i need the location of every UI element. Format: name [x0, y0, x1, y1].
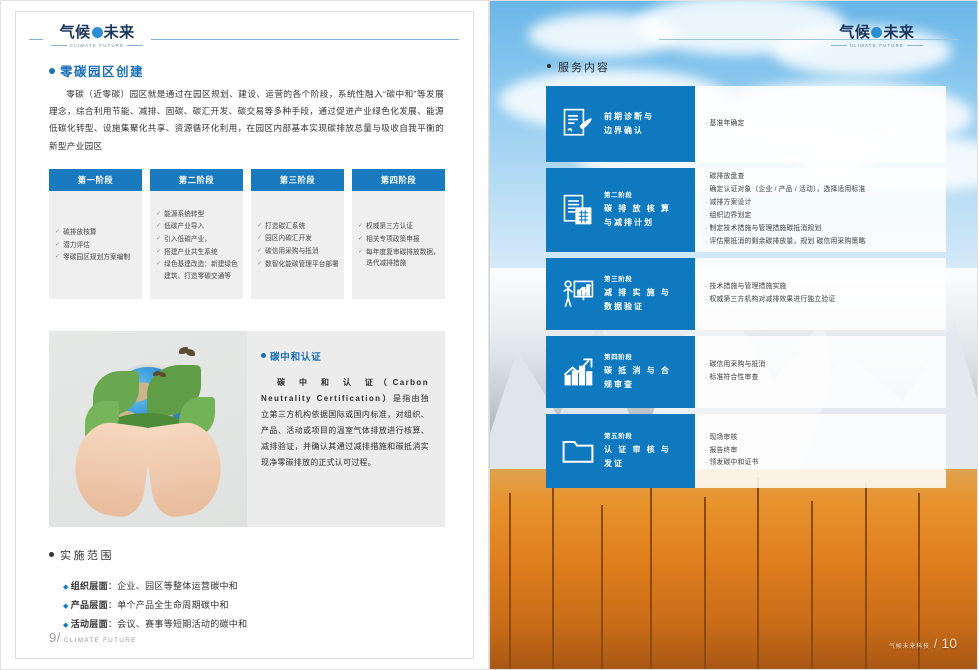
service-card: 第四阶段 碳 抵 消 与 合 规审查 · 碳信用采购与抵消 · 标准符合性审查 — [546, 336, 946, 408]
stage-body: ✓ 打造碳汇系统 ✓ 园区内碳汇开发 ✓ 碳信用采购与抵消 ✓ 数智化能碳管理平… — [251, 191, 344, 299]
stage-column: 第四阶段 ✓ 权威第三方认证 ✓ 相关专项政策申报 ✓ 每年度复审碳排放数据，迭… — [352, 169, 445, 299]
document-calculator-icon — [558, 190, 598, 230]
service-card-item: · 碳信用采购与抵消 — [705, 359, 936, 372]
service-card: 第三阶段 减 排 实 施 与 数据验证 · 技术措施与管理措施实施 · 权威第三… — [546, 258, 946, 330]
tree-trunk — [509, 493, 511, 669]
logo-wordmark-cn: 气候 未来 — [839, 21, 914, 42]
stage-item: ✓ 权威第三方认证 — [358, 221, 440, 233]
service-card-item: · 确定认证对象（企业 / 产品 / 活动），选择适用标准 — [705, 184, 936, 197]
stage-item: ✓ 能源系统转型 — [156, 209, 238, 221]
left-page: 气候 未来 CLIMATE FUTURE 零碳园区创建 零碳（近零碳）园区就是通… — [0, 0, 489, 670]
check-icon: ✓ — [358, 247, 363, 258]
stage-item: ✓ 低碳产业导入 — [156, 221, 238, 233]
logo-char-1: 气候 — [60, 21, 91, 42]
service-card-stage: 第五阶段 — [604, 431, 671, 442]
service-card-line: 减 排 实 施 与 — [604, 286, 671, 300]
service-card-header: 第四阶段 碳 抵 消 与 合 规审查 — [546, 336, 695, 408]
stage-item: ✓ 园区内碳汇开发 — [257, 233, 339, 245]
service-card-header: 前期诊断与 边界确认 — [546, 86, 695, 162]
tree-trunk — [811, 501, 813, 669]
globe-icon — [92, 27, 103, 38]
spread-gutter — [489, 0, 490, 670]
page-number: 10 — [941, 635, 957, 651]
stage-item: ✓ 零碳园区规划方案编制 — [55, 252, 137, 264]
right-section-title: 服务内容 — [547, 59, 610, 75]
bullet-dot-icon — [547, 64, 551, 68]
service-card-line: 碳 抵 消 与 合 — [604, 364, 671, 378]
scope-item-label: 组织层面 — [71, 577, 108, 596]
service-card-header: 第三阶段 减 排 实 施 与 数据验证 — [546, 258, 695, 330]
stage-column: 第三阶段 ✓ 打造碳汇系统 ✓ 园区内碳汇开发 ✓ 碳信用采购与抵消 ✓ 数智化… — [251, 169, 344, 299]
tree-trunk — [650, 485, 652, 669]
stage-column: 第二阶段 ✓ 能源系统转型 ✓ 低碳产业导入 ✓ 引入低碳产业， ✓ 搭建产业共… — [150, 169, 243, 299]
check-icon: ✓ — [55, 240, 60, 251]
check-icon: ✓ — [257, 259, 262, 270]
service-card-line: 规审查 — [604, 378, 671, 392]
footer-label: 气候未来科技 — [889, 641, 930, 650]
stage-columns: 第一阶段 ✓ 碳排放核算 ✓ 潜力评估 ✓ 零碳园区规划方案编制 第二阶段 — [49, 169, 445, 299]
dot-bullet-icon: · — [705, 223, 707, 236]
service-card-item: · 技术措施与管理措施实施 — [705, 281, 936, 294]
dot-bullet-icon: · — [705, 445, 707, 458]
growth-bar-chart-arrow-icon — [558, 352, 598, 392]
service-card-item: · 报告终审 — [705, 445, 936, 458]
service-card-body: · 碳信用采购与抵消 · 标准符合性审查 — [695, 336, 946, 408]
scope-list: ◆ 组织层面 ：企业、园区等整体运营碳中和 ◆ 产品层面 ：单个产品全生命周期碳… — [63, 577, 247, 634]
dot-bullet-icon: · — [705, 171, 707, 184]
service-card-title: 前期诊断与 边界确认 — [604, 110, 654, 138]
service-card-item: · 评估需抵消的剩余碳排放量，规划 碳信用采购策略 — [705, 236, 936, 249]
dot-bullet-icon: · — [705, 118, 707, 131]
dot-bullet-icon: · — [705, 372, 707, 385]
scope-item: ◆ 组织层面 ：企业、园区等整体运营碳中和 — [63, 577, 247, 596]
logo-lockup: 气候 未来 CLIMATE FUTURE — [825, 21, 929, 48]
stage-item: ✓ 碳信用采购与抵消 — [257, 246, 339, 258]
intro-paragraph: 零碳（近零碳）园区就是通过在园区规划、建设、运营的各个阶段，系统性融入“碳中和”… — [49, 86, 444, 155]
bullet-dot-icon — [49, 68, 55, 74]
service-card: 第二阶段 碳 排 放 核 算 与减排计划 · 碳排放盘查 · 确定认证对象（企业… — [546, 168, 946, 252]
service-card-line: 发证 — [604, 457, 671, 471]
left-page-logo: 气候 未来 CLIMATE FUTURE — [29, 23, 459, 53]
scope-title: 实施范围 — [49, 547, 247, 563]
logo-wordmark-en: CLIMATE FUTURE — [51, 43, 143, 48]
globe-icon — [871, 27, 882, 38]
stage-item: ✓ 每年度复审碳排放数据，迭代减排措施 — [358, 247, 440, 270]
check-icon: ✓ — [156, 259, 161, 270]
service-card-item: · 组织边界划定 — [705, 210, 936, 223]
service-card-line: 数据验证 — [604, 300, 671, 314]
check-icon: ✓ — [156, 209, 161, 220]
stage-item: ✓ 碳排放核算 — [55, 227, 137, 239]
dot-bullet-icon: · — [705, 432, 707, 445]
service-card-item: · 领发碳中和证书 — [705, 457, 936, 470]
stage-item: ✓ 潜力评估 — [55, 240, 137, 252]
footer-slash: / — [934, 636, 938, 651]
service-card-item: · 标准符合性审查 — [705, 372, 936, 385]
diamond-bullet-icon: ◆ — [63, 600, 69, 615]
diamond-bullet-icon: ◆ — [63, 581, 69, 596]
folder-icon — [558, 431, 598, 471]
tree-trunk — [865, 483, 867, 669]
service-card-title: 第四阶段 碳 抵 消 与 合 规审查 — [604, 352, 671, 391]
service-card-title: 第三阶段 减 排 实 施 与 数据验证 — [604, 274, 671, 313]
magazine-spread: 气候 未来 CLIMATE FUTURE 零碳园区创建 零碳（近零碳）园区就是通… — [0, 0, 979, 670]
service-card-stage: 第三阶段 — [604, 274, 671, 285]
right-page-footer: 气候未来科技 / 10 — [889, 635, 957, 651]
logo-char-2: 未来 — [104, 21, 135, 42]
service-card-line: 与减排计划 — [604, 216, 671, 230]
service-card-stage: 第二阶段 — [604, 190, 671, 201]
service-card-item: · 碳排放盘查 — [705, 171, 936, 184]
document-quill-icon — [558, 104, 598, 144]
logo-wordmark-en: CLIMATE FUTURE — [831, 43, 923, 48]
service-card: 前期诊断与 边界确认 · 基准年确定 — [546, 86, 946, 162]
carbon-neutrality-text: 碳中和认证 碳 中 和 认 证（Carbon Neutrality Certif… — [247, 331, 445, 527]
service-card-list: 前期诊断与 边界确认 · 基准年确定 — [546, 86, 946, 494]
check-icon: ✓ — [156, 247, 161, 258]
check-icon: ✓ — [55, 252, 60, 263]
stage-header: 第四阶段 — [352, 169, 445, 191]
stage-item: ✓ 搭建产业共生系统 — [156, 247, 238, 259]
service-card-item: · 基准年确定 — [705, 118, 936, 131]
stage-body: ✓ 碳排放核算 ✓ 潜力评估 ✓ 零碳园区规划方案编制 — [49, 191, 142, 299]
dot-bullet-icon: · — [705, 210, 707, 223]
tree-trunk — [704, 497, 706, 669]
check-icon: ✓ — [257, 221, 262, 232]
service-card-title: 第五阶段 认 证 审 核 与 发证 — [604, 431, 671, 470]
stage-header: 第一阶段 — [49, 169, 142, 191]
cert-definition: 是指由独立第三方机构依据国际或国内标准，对组织、产品、活动或项目的温室气体排放进… — [261, 394, 429, 467]
right-page-logo: 气候 未来 CLIMATE FUTURE — [659, 25, 959, 51]
bullet-dot-icon — [49, 552, 54, 557]
left-section-title: 零碳园区创建 — [49, 61, 144, 80]
service-card-item: · 权威第三方机构对减排效果进行独立验证 — [705, 294, 936, 307]
tree-trunk — [601, 505, 603, 669]
service-card-item: · 制定技术措施与管理措施碳抵消规划 — [705, 223, 936, 236]
stage-item: ✓ 打造碳汇系统 — [257, 221, 339, 233]
service-card-line: 碳 排 放 核 算 — [604, 202, 671, 216]
left-page-footer: 9 / CLIMATE FUTURE — [49, 630, 137, 645]
footer-slash: / — [57, 630, 61, 645]
scope-item: ◆ 产品层面 ：单个产品全生命周期碳中和 — [63, 596, 247, 615]
service-card-header: 第二阶段 碳 排 放 核 算 与减排计划 — [546, 168, 695, 252]
stage-item: ✓ 引入低碳产业， — [156, 234, 238, 246]
service-card-item: · 减排方案设计 — [705, 197, 936, 210]
check-icon: ✓ — [257, 233, 262, 244]
service-card-body: · 基准年确定 — [695, 86, 946, 162]
page-number: 9 — [49, 630, 57, 645]
right-page: 气候 未来 CLIMATE FUTURE 服务内容 — [489, 0, 978, 670]
check-icon: ✓ — [156, 221, 161, 232]
check-icon: ✓ — [358, 221, 363, 232]
cert-card-title: 碳中和认证 — [261, 349, 429, 363]
service-card-body: · 碳排放盘查 · 确定认证对象（企业 / 产品 / 活动），选择适用标准 · … — [695, 168, 946, 252]
left-hand-shape — [69, 418, 153, 519]
dot-bullet-icon: · — [705, 197, 707, 210]
scope-item-text: ：单个产品全生命周期碳中和 — [108, 596, 229, 615]
service-card-body: · 技术措施与管理措施实施 · 权威第三方机构对减排效果进行独立验证 — [695, 258, 946, 330]
carbon-neutrality-card: 碳中和认证 碳 中 和 认 证（Carbon Neutrality Certif… — [49, 331, 445, 527]
earth-in-hands-illustration — [49, 331, 247, 527]
dot-bullet-icon: · — [705, 457, 707, 470]
service-card-header: 第五阶段 认 证 审 核 与 发证 — [546, 414, 695, 488]
scope-item-label: 产品层面 — [71, 596, 108, 615]
scope-section: 实施范围 ◆ 组织层面 ：企业、园区等整体运营碳中和 ◆ 产品层面 ：单个产品全… — [49, 547, 247, 634]
presentation-chart-person-icon — [558, 274, 598, 314]
cert-card-body: 碳 中 和 认 证（Carbon Neutrality Certificatio… — [261, 375, 429, 471]
scope-item-text: ：企业、园区等整体运营碳中和 — [108, 577, 238, 596]
right-hand-shape — [143, 418, 227, 519]
stage-item: ✓ 数智化能碳管理平台部署 — [257, 259, 339, 271]
check-icon: ✓ — [156, 234, 161, 245]
dot-bullet-icon: · — [705, 281, 707, 294]
check-icon: ✓ — [55, 227, 60, 238]
stage-header: 第二阶段 — [150, 169, 243, 191]
service-card-item: · 现场审核 — [705, 432, 936, 445]
tree-trunk — [757, 477, 759, 669]
stage-item: ✓ 相关专项政策申报 — [358, 234, 440, 246]
logo-char-2: 未来 — [883, 21, 914, 42]
dot-bullet-icon: · — [705, 294, 707, 307]
service-card: 第五阶段 认 证 审 核 与 发证 · 现场审核 · 报告终审 · 领发碳中和证… — [546, 414, 946, 488]
bullet-dot-icon — [261, 353, 266, 358]
service-card-line: 边界确认 — [604, 124, 654, 138]
logo-lockup: 气候 未来 CLIMATE FUTURE — [43, 21, 151, 48]
cert-term-cn: 碳 中 和 认 证 — [277, 378, 379, 387]
dot-bullet-icon: · — [705, 359, 707, 372]
service-card-line: 前期诊断与 — [604, 110, 654, 124]
service-card-body: · 现场审核 · 报告终审 · 领发碳中和证书 — [695, 414, 946, 488]
stage-body: ✓ 权威第三方认证 ✓ 相关专项政策申报 ✓ 每年度复审碳排放数据，迭代减排措施 — [352, 191, 445, 299]
service-card-title: 第二阶段 碳 排 放 核 算 与减排计划 — [604, 190, 671, 229]
logo-wordmark-cn: 气候 未来 — [60, 21, 135, 42]
check-icon: ✓ — [257, 246, 262, 257]
footer-label: CLIMATE FUTURE — [64, 637, 137, 644]
logo-char-1: 气候 — [839, 21, 870, 42]
service-card-stage: 第四阶段 — [604, 352, 671, 363]
stage-item: ✓ 绿色基建改造：新建绿色建筑、打造零碳交通等 — [156, 259, 238, 282]
stage-body: ✓ 能源系统转型 ✓ 低碳产业导入 ✓ 引入低碳产业， ✓ 搭建产业共生系统 ✓… — [150, 191, 243, 299]
stage-column: 第一阶段 ✓ 碳排放核算 ✓ 潜力评估 ✓ 零碳园区规划方案编制 — [49, 169, 142, 299]
dot-bullet-icon: · — [705, 236, 707, 249]
check-icon: ✓ — [358, 234, 363, 245]
dot-bullet-icon: · — [705, 184, 707, 197]
tree-trunk — [552, 479, 554, 669]
stage-header: 第三阶段 — [251, 169, 344, 191]
service-card-line: 认 证 审 核 与 — [604, 443, 671, 457]
